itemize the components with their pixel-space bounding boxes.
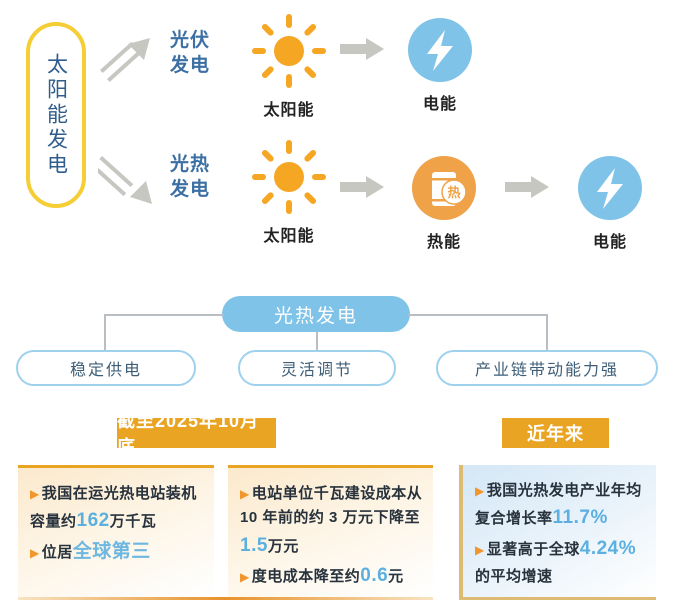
bullet-number: 0.6: [360, 565, 388, 586]
flow-node-caption: 太阳能: [249, 222, 329, 246]
banner-label: 近年来: [527, 420, 584, 446]
sun-icon: [252, 14, 326, 88]
bullet-text-post: 的平均增速: [475, 568, 553, 585]
banner-label: 截至2025年10月底: [117, 407, 276, 459]
branch-label-concentrated-solar: 光热 发电: [159, 152, 221, 202]
flow-node-electric-energy-row1: 电能: [400, 18, 480, 114]
banner-recent-years: 近年来: [502, 418, 609, 448]
bullet-number: 11.7%: [553, 507, 608, 528]
stats-bottom-rule-growth: [459, 597, 656, 600]
tree-root-node: 光热发电: [222, 296, 410, 332]
branch-label-csp-line1: 光热: [159, 152, 221, 177]
bullet-triangle-icon: ▶: [240, 487, 250, 501]
stat-card-installed-capacity: ▶我国在运光热电站装机容量约162万千瓦 ▶位居全球第三: [18, 465, 214, 597]
sun-icon: [252, 140, 326, 214]
bullet-text-post: 元: [388, 568, 404, 585]
bullet-triangle-icon: ▶: [475, 543, 485, 557]
bullet-number: 162: [77, 510, 110, 531]
energy-flow-diagram: 太阳能发电 光伏 发电 光热 发电: [0, 0, 674, 282]
branch-label-pv-line2: 发电: [159, 53, 221, 78]
branch-label-photovoltaic: 光伏 发电: [159, 28, 221, 78]
tree-child-industry-chain: 产业链带动能力强: [436, 350, 658, 386]
branch-label-pv-line1: 光伏: [159, 28, 221, 53]
flow-node-caption: 电能: [400, 90, 480, 114]
bullet-triangle-icon: ▶: [30, 546, 40, 560]
stat-bullet: ▶显著高于全球4.24%的平均增速: [475, 534, 646, 589]
flow-node-electric-energy-row2: 电能: [570, 156, 650, 252]
branch-arrow-up-icon: [98, 32, 160, 94]
flow-arrow-right-icon: [505, 176, 549, 198]
bullet-text-post: 万千瓦: [110, 513, 157, 530]
stat-bullet: ▶度电成本降至约0.6元: [240, 561, 423, 592]
infographic-root: 太阳能发电 光伏 发电 光热 发电: [0, 0, 674, 610]
flow-node-thermal-energy: 热 热能: [404, 156, 484, 252]
tree-child-label: 稳定供电: [70, 356, 142, 380]
tree-child-flexible-regulation: 灵活调节: [238, 350, 396, 386]
flow-arrow-right-icon: [340, 38, 384, 60]
branch-arrow-down-icon: [98, 148, 160, 210]
stat-bullet: ▶位居全球第三: [30, 537, 204, 568]
stat-card-growth: ▶我国光热发电产业年均复合增长率11.7% ▶显著高于全球4.24%的平均增速: [459, 465, 656, 597]
stat-card-cost: ▶电站单位千瓦建设成本从10 年前的约 3 万元下降至1.5万元 ▶度电成本降至…: [228, 465, 433, 597]
lightning-bolt-icon: [578, 156, 642, 220]
tree-connector-mid-v: [316, 332, 318, 352]
bullet-triangle-icon: ▶: [30, 487, 40, 501]
tree-root-label: 光热发电: [274, 301, 358, 328]
heat-tank-icon: 热: [412, 156, 476, 220]
bullet-number: 4.24%: [580, 538, 636, 559]
source-capsule-solar-power: 太阳能发电: [26, 22, 86, 208]
bullet-text: 位居: [42, 544, 73, 561]
tree-child-label: 产业链带动能力强: [475, 356, 619, 380]
tree-child-stable-supply: 稳定供电: [16, 350, 196, 386]
tree-connector-right-v: [546, 314, 548, 352]
csp-benefits-tree: 光热发电 稳定供电 灵活调节 产业链带动能力强: [0, 288, 674, 398]
bullet-text: 度电成本降至约: [252, 568, 361, 585]
stat-bullet: ▶我国光热发电产业年均复合增长率11.7%: [475, 479, 646, 534]
stats-bottom-rule: [18, 597, 433, 600]
bullet-triangle-icon: ▶: [240, 570, 250, 584]
statistics-section: 截至2025年10月底 近年来 ▶我国在运光热电站装机容量约162万千瓦 ▶位居…: [0, 418, 674, 610]
bullet-text: 显著高于全球: [487, 541, 580, 558]
flow-arrow-right-icon: [340, 176, 384, 198]
flow-node-solar-energy-row2: 太阳能: [249, 140, 329, 246]
bullet-text-post: 万元: [268, 538, 299, 555]
flow-node-solar-energy-row1: 太阳能: [249, 14, 329, 120]
banner-as-of-date: 截至2025年10月底: [117, 418, 276, 448]
tree-connector-right-h: [408, 314, 548, 316]
source-capsule-label: 太阳能发电: [44, 53, 67, 178]
flow-node-caption: 太阳能: [249, 96, 329, 120]
bullet-triangle-icon: ▶: [475, 484, 485, 498]
flow-node-caption: 电能: [570, 228, 650, 252]
heat-glyph: 热: [447, 185, 460, 200]
bullet-text: 电站单位千瓦建设成本从10 年前的约 3 万元下降至: [240, 485, 422, 526]
lightning-bolt-icon: [408, 18, 472, 82]
branch-label-csp-line2: 发电: [159, 177, 221, 202]
bullet-highlight: 全球第三: [73, 541, 151, 562]
stat-bullet: ▶电站单位千瓦建设成本从10 年前的约 3 万元下降至1.5万元: [240, 482, 423, 561]
tree-child-label: 灵活调节: [281, 356, 353, 380]
tree-connector-left-v: [104, 314, 106, 352]
tree-connector-left-h: [104, 314, 224, 316]
stat-bullet: ▶我国在运光热电站装机容量约162万千瓦: [30, 482, 204, 537]
flow-node-caption: 热能: [404, 228, 484, 252]
bullet-number: 1.5: [240, 535, 268, 556]
